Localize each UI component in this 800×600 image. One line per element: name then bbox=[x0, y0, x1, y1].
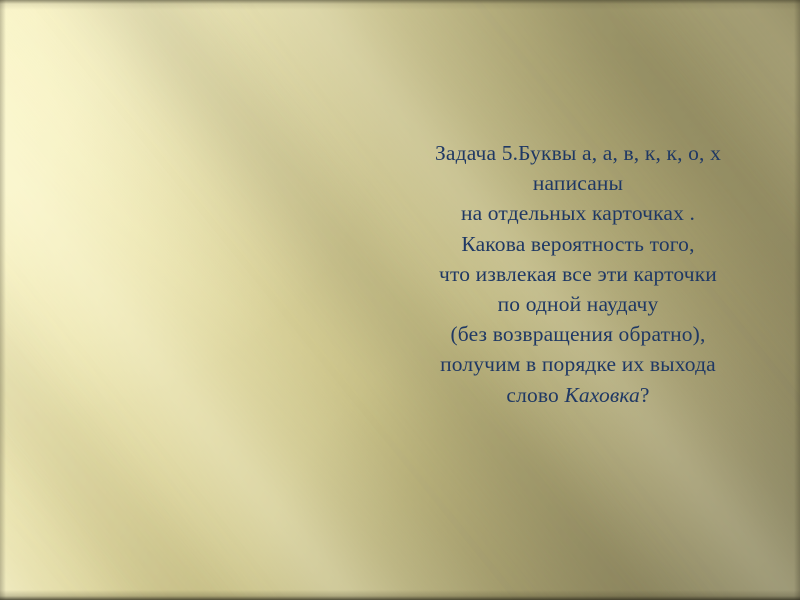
problem-text-line-1: Задача 5.Буквы а, а, в, к, к, о, х bbox=[372, 138, 784, 168]
final-line-suffix: ? bbox=[640, 383, 650, 407]
problem-text-line-8: получим в порядке их выхода bbox=[372, 349, 784, 379]
problem-text-line-6: по одной наудачу bbox=[372, 289, 784, 319]
final-line-keyword: Каховка bbox=[564, 383, 639, 407]
problem-text-line-9: слово Каховка? bbox=[372, 380, 784, 410]
slide-canvas: Задача 5.Буквы а, а, в, к, к, о, х напис… bbox=[0, 0, 800, 600]
problem-text-line-3: на отдельных карточках . bbox=[372, 198, 784, 228]
problem-text-line-7: (без возвращения обратно), bbox=[372, 319, 784, 349]
problem-text-block: Задача 5.Буквы а, а, в, к, к, о, х напис… bbox=[372, 138, 784, 410]
problem-text-line-4: Какова вероятность того, bbox=[372, 229, 784, 259]
problem-text-line-2: написаны bbox=[372, 168, 784, 198]
final-line-prefix: слово bbox=[506, 383, 564, 407]
problem-text-line-5: что извлекая все эти карточки bbox=[372, 259, 784, 289]
